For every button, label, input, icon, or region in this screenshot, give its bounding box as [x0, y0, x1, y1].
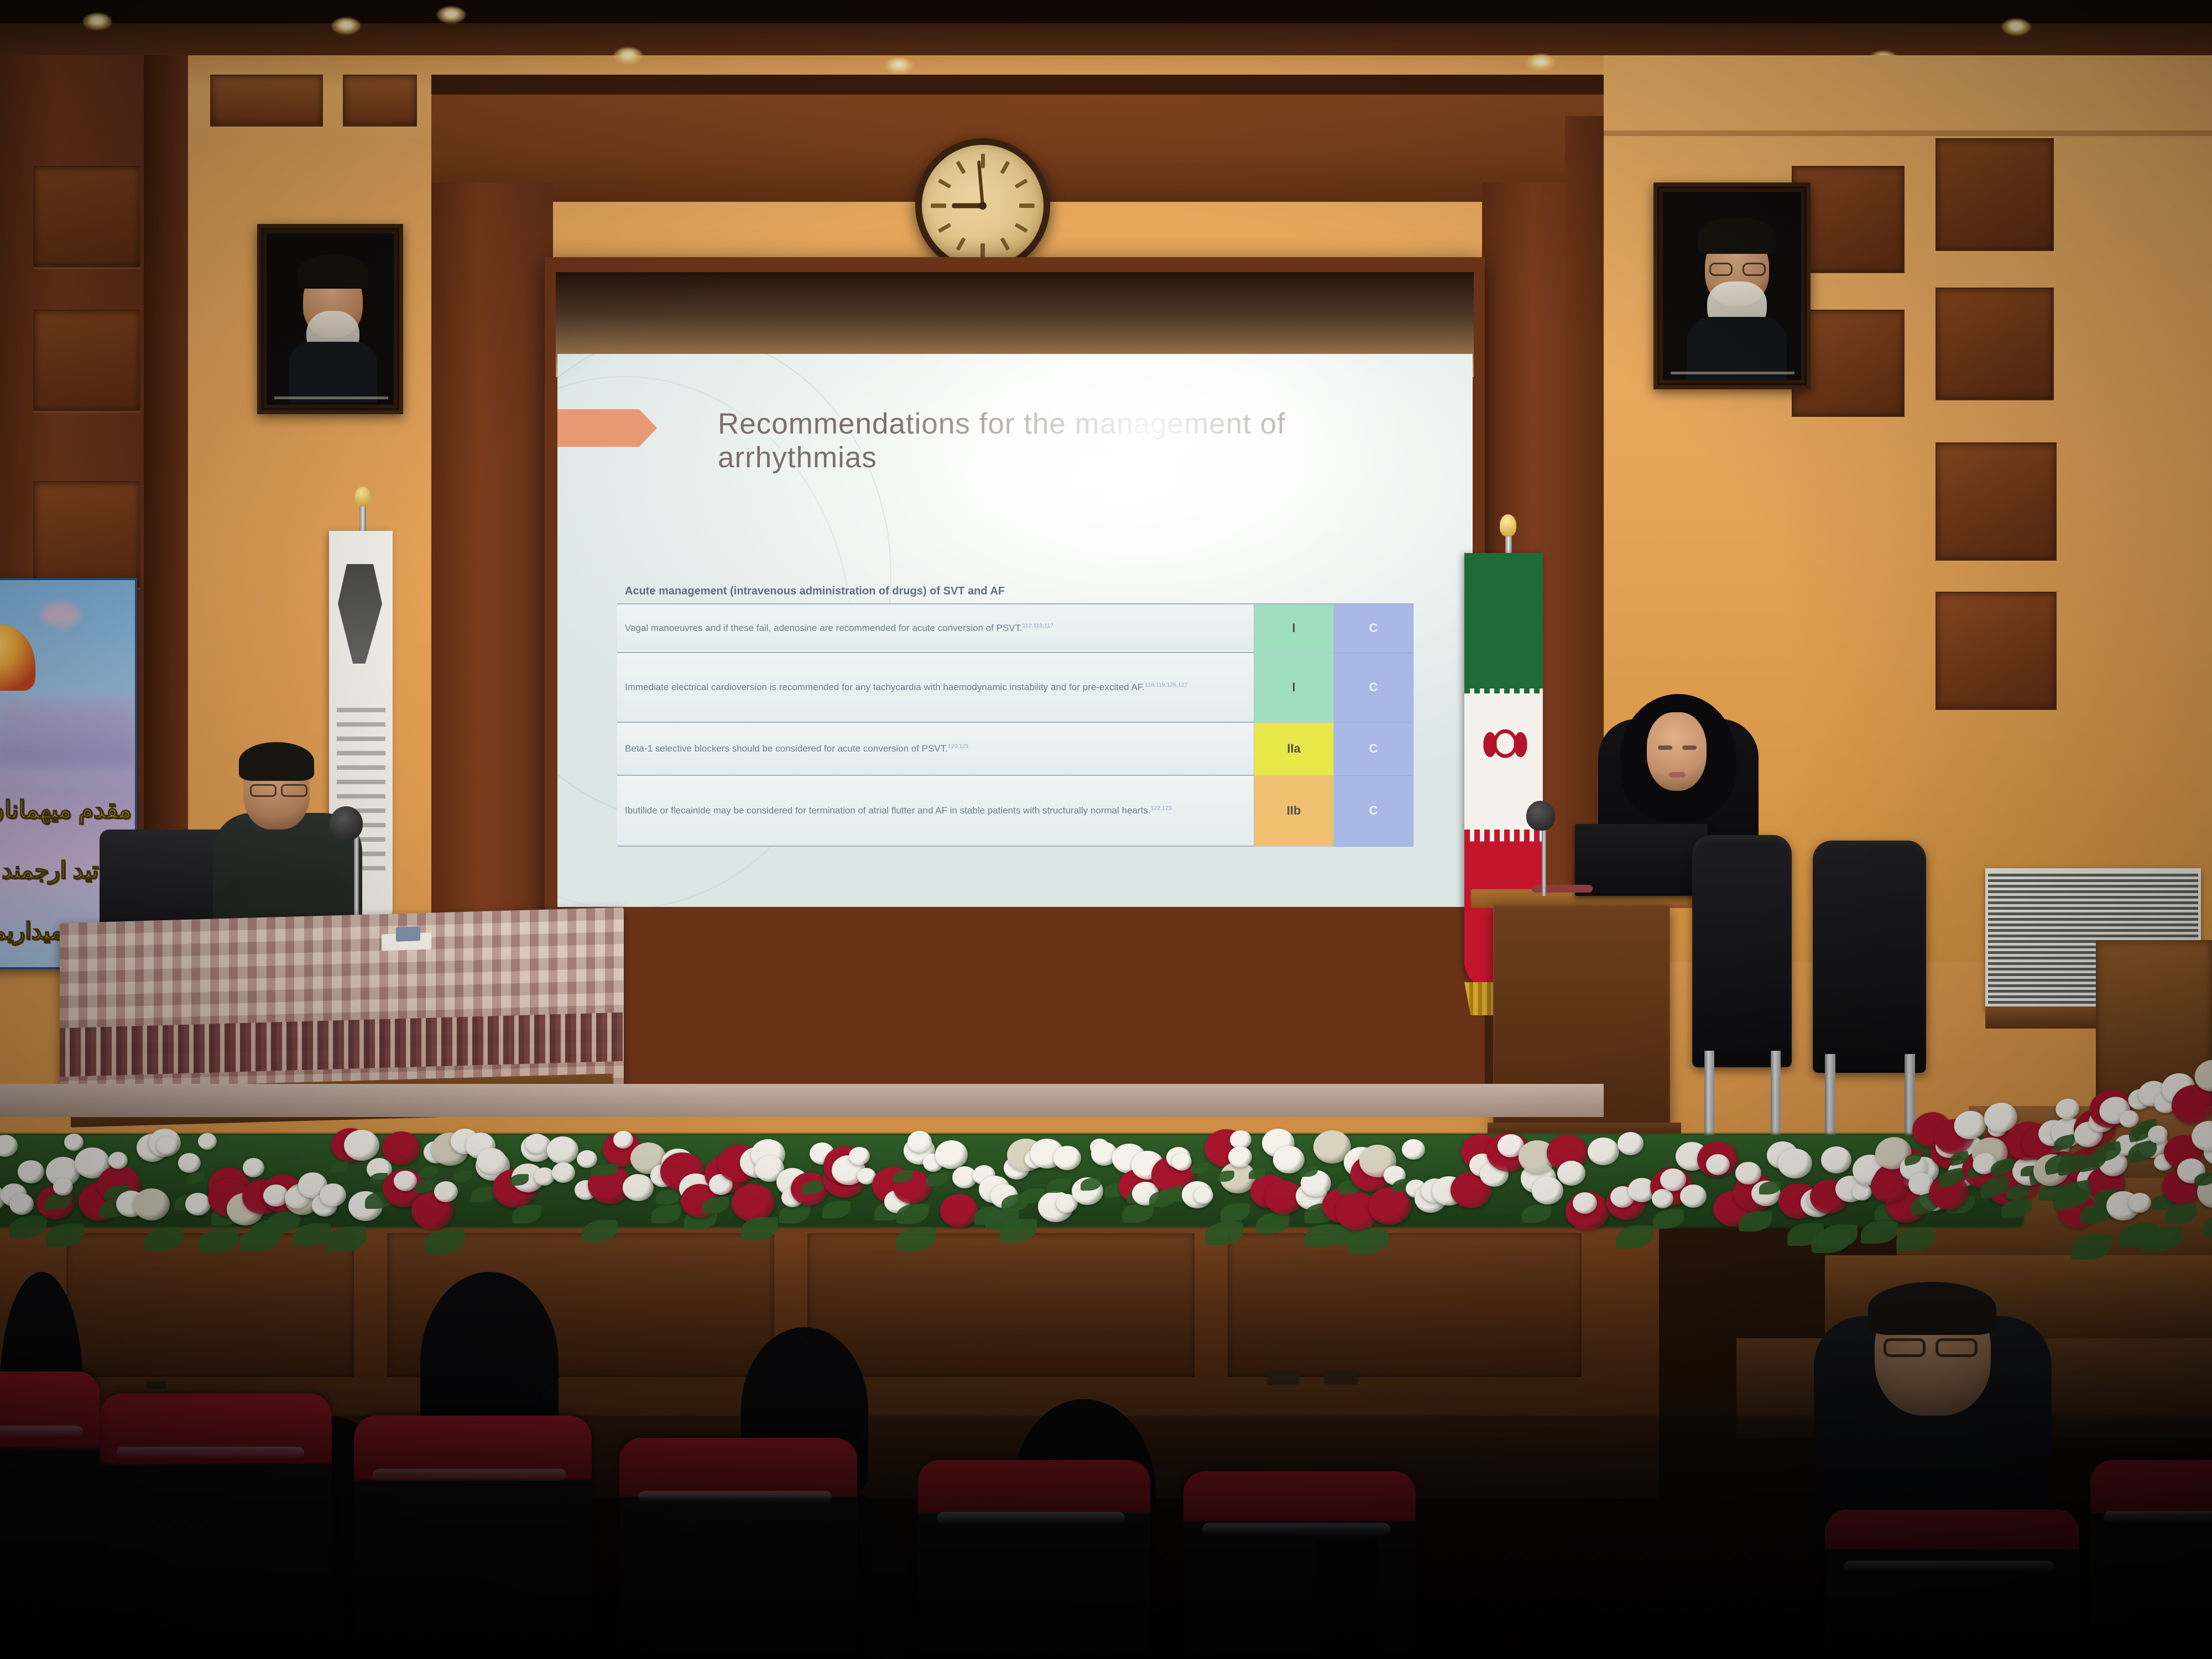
wall-inset-panel	[1936, 138, 2054, 251]
audience-glasses-icon	[1936, 1338, 1978, 1357]
wall-inset-panel	[343, 75, 417, 127]
flower-white	[1588, 1138, 1619, 1165]
framed-portrait-left	[257, 224, 403, 414]
seat-sheen	[1844, 1561, 2054, 1573]
flower-white	[185, 1193, 211, 1215]
flower-white	[849, 1147, 870, 1165]
speaker-eye	[1658, 745, 1672, 750]
stage-socket	[1266, 1370, 1300, 1385]
ceiling-spotlight-icon	[614, 48, 643, 64]
flag-emblem-icon	[338, 564, 382, 664]
flower-white	[2128, 1193, 2151, 1213]
panelist-hair	[239, 742, 314, 781]
flower-white	[1402, 1139, 1425, 1160]
level-cell: C	[1334, 775, 1413, 846]
table-row: Immediate electrical cardioversion is re…	[617, 653, 1413, 722]
portrait-turban	[1698, 217, 1776, 254]
podium-laptop	[1575, 824, 1708, 896]
flower-white	[1194, 1187, 1213, 1204]
podium-laser-pointer	[1532, 885, 1593, 893]
flag-kufic-band-top	[1464, 681, 1543, 693]
level-cell: C	[1334, 722, 1413, 775]
speaker-eye	[1682, 745, 1697, 750]
recommendation-text: Vagal manoeuvres and if these fail, aden…	[617, 604, 1254, 653]
projection-screen-surface: Recommendations for the management of ar…	[557, 354, 1473, 907]
flower-white	[1660, 1168, 1686, 1191]
clock-center-pin	[979, 202, 987, 210]
level-cell: C	[1334, 653, 1413, 722]
recommendation-body: Ibutilide or flecainide may be considere…	[625, 805, 1151, 816]
seat-sheen	[638, 1491, 832, 1503]
flower-white	[53, 1178, 73, 1196]
flower-red	[940, 1194, 978, 1228]
flower-white	[2054, 1097, 2081, 1121]
stage-socket	[147, 1381, 166, 1389]
flower-white	[1778, 1149, 1812, 1178]
recommendation-refs: 122,123	[1151, 805, 1172, 811]
panelist-glasses-icon	[281, 784, 307, 797]
wall-inset-panel	[1936, 592, 2057, 710]
ceiling-spotlight-icon	[885, 58, 914, 74]
recommendation-refs: 120,121	[948, 743, 969, 749]
stage-socket	[1324, 1370, 1358, 1385]
wall-inset-panel	[1936, 442, 2057, 561]
seat-sheen	[937, 1512, 1125, 1524]
auditorium-seat	[918, 1460, 1150, 1659]
portrait-canvas	[267, 233, 394, 405]
portrait-canvas	[1663, 192, 1801, 380]
wall-inset-panel	[210, 75, 323, 127]
seat-sheen	[0, 1426, 83, 1438]
stage-chair	[1692, 835, 1792, 1067]
stage-chair	[1813, 841, 1926, 1073]
table-row: Beta-1 selective blockers should be cons…	[617, 722, 1413, 775]
flower-white	[907, 1131, 932, 1152]
slide-accent-arrow	[557, 409, 657, 447]
auditorium-seat	[354, 1416, 592, 1659]
auditorium-seat	[0, 1371, 100, 1659]
section-header-spacer	[1334, 582, 1413, 604]
panelist-glasses-icon	[250, 784, 276, 797]
framed-portrait-right	[1653, 182, 1811, 389]
recommendation-body: Immediate electrical cardioversion is re…	[625, 682, 1145, 692]
wall-inset-panel	[1936, 288, 2054, 400]
flower-white	[1618, 1132, 1644, 1155]
recommendation-text: Beta-1 selective blockers should be cons…	[617, 722, 1254, 775]
flower-white	[243, 1158, 264, 1177]
class-cell: I	[1254, 604, 1334, 653]
conference-hall-photo: Recommendations for the management of ar…	[0, 0, 2212, 1659]
flower-white	[1228, 1146, 1252, 1167]
flag-finial-iran	[1500, 514, 1516, 536]
class-cell: IIa	[1254, 722, 1334, 775]
flower-white	[525, 1134, 548, 1154]
auditorium-seat	[619, 1438, 857, 1659]
flower-red	[732, 1184, 775, 1222]
portrait-caption-bar	[1671, 372, 1794, 374]
recommendations-table: Acute management (intravenous administra…	[617, 582, 1413, 847]
iran-emblem-icon	[1480, 719, 1531, 766]
wall-clock	[915, 138, 1050, 273]
flower-white	[1821, 1146, 1851, 1173]
recommendation-refs: 118,119,126,127	[1145, 681, 1188, 688]
speaker-face	[1647, 712, 1707, 791]
flower-white	[434, 1181, 458, 1202]
stage-face-panel	[66, 1233, 354, 1377]
panelist-crossed-arms	[221, 879, 354, 912]
flower-white	[1273, 1146, 1305, 1173]
flower-white	[320, 1183, 346, 1207]
banner-line-1: مقدم میهمانان	[0, 796, 132, 824]
recommendation-refs: 112,113,117	[1022, 622, 1053, 629]
flag-kufic-band-bottom	[1464, 830, 1543, 842]
auditorium-seat	[1825, 1510, 2079, 1659]
audience-glasses-icon	[1884, 1338, 1926, 1357]
microphone-head-icon	[330, 806, 363, 841]
speaker-mouth	[1669, 772, 1686, 778]
audience-person-right-hair	[1868, 1282, 1996, 1335]
flower-white	[64, 1134, 84, 1151]
podium-microphone-head-icon	[1526, 801, 1555, 831]
ceiling-spotlight-icon	[332, 18, 361, 34]
ceiling-spotlight-icon	[2002, 19, 2031, 35]
level-cell: C	[1334, 604, 1413, 653]
flower-cream	[133, 1188, 170, 1220]
shrine-dome-icon	[0, 624, 35, 691]
ceiling-spotlight-icon	[83, 13, 112, 30]
auditorium-seat	[1183, 1471, 1416, 1659]
flower-white	[623, 1174, 654, 1201]
portrait-glasses-icon	[1743, 263, 1766, 276]
flower-white	[477, 1148, 507, 1174]
flower-white	[1706, 1154, 1730, 1175]
wall-inset-panel	[33, 166, 140, 268]
recommendation-text: Immediate electrical cardioversion is re…	[617, 653, 1254, 722]
wall-inset-panel	[33, 481, 140, 588]
wall-right-reveal-line	[1604, 131, 2212, 136]
flower-white	[344, 1130, 379, 1161]
auditorium-seat	[100, 1394, 332, 1659]
portrait-glasses-icon	[1709, 263, 1733, 276]
cloud-decoration	[41, 602, 80, 627]
flower-white	[178, 1153, 201, 1173]
flower-white	[552, 1162, 575, 1183]
portrait-caption-bar	[274, 397, 388, 399]
seat-sheen	[373, 1469, 566, 1481]
flower-red	[382, 1131, 420, 1165]
flower-white	[1573, 1192, 1597, 1214]
flower-white	[1852, 1183, 1872, 1201]
flower-white	[1652, 1189, 1673, 1208]
flower-white	[18, 1160, 44, 1183]
flag-finial-left	[355, 487, 371, 507]
flower-white	[394, 1171, 417, 1191]
table-row: Vagal manoeuvres and if these fail, aden…	[617, 604, 1413, 653]
flower-white	[613, 1131, 633, 1149]
wall-column-divider	[144, 55, 188, 918]
table-section-header-row: Acute management (intravenous administra…	[617, 582, 1413, 604]
flower-white	[1172, 1153, 1192, 1171]
recommendation-body: Vagal manoeuvres and if these fail, aden…	[625, 623, 1022, 633]
seat-divider	[1316, 1537, 1377, 1659]
portrait-turban	[298, 254, 368, 289]
seat-sheen	[116, 1447, 304, 1459]
seat-sheen	[2104, 1511, 2212, 1523]
flower-red	[1369, 1187, 1411, 1225]
table-row: Ibutilide or flecainide may be considere…	[617, 775, 1413, 846]
flower-white	[1680, 1185, 1707, 1208]
slide-recommendation-table: Acute management (intravenous administra…	[617, 582, 1413, 847]
flower-white	[156, 1136, 177, 1155]
flower-white	[577, 1150, 597, 1168]
portrait-robe	[289, 342, 377, 403]
foliage-leaf	[1819, 1224, 1858, 1248]
flower-white	[1053, 1146, 1081, 1170]
seat-sheen	[1202, 1523, 1390, 1535]
recommendation-text: Ibutilide or flecainide may be considere…	[617, 775, 1254, 846]
flower-white	[935, 1140, 968, 1169]
table-nameplate	[396, 926, 420, 942]
ceiling-spotlight-icon	[437, 7, 466, 23]
stage-face-panel	[1228, 1233, 1582, 1377]
stage-face-panel	[807, 1233, 1194, 1377]
slide-heading: Recommendations for the management of ar…	[718, 407, 1409, 474]
flower-white	[547, 1136, 578, 1164]
flower-white	[198, 1133, 217, 1150]
class-cell: IIb	[1254, 775, 1334, 846]
proscenium-top-shadow	[431, 75, 1604, 95]
flower-white	[1557, 1161, 1585, 1186]
section-header-cell: Acute management (intravenous administra…	[617, 582, 1254, 604]
foliage-leaf	[1978, 1175, 2011, 1199]
class-cell: I	[1254, 653, 1334, 722]
wall-inset-panel	[33, 310, 140, 411]
flower-white	[9, 1193, 34, 1215]
cloud-decoration	[0, 699, 135, 765]
ceiling-spotlight-icon	[1526, 54, 1555, 71]
auditorium-seat	[2090, 1460, 2212, 1659]
ceiling-shadow-band	[0, 0, 2212, 23]
portrait-robe	[1687, 317, 1787, 380]
flower-white	[1735, 1162, 1761, 1185]
section-header-spacer	[1254, 582, 1334, 604]
recommendation-body: Beta-1 selective blockers should be cons…	[625, 743, 948, 754]
flower-white	[108, 1152, 128, 1169]
flower-white	[1532, 1177, 1563, 1204]
foliage-leaf	[2203, 1215, 2212, 1237]
